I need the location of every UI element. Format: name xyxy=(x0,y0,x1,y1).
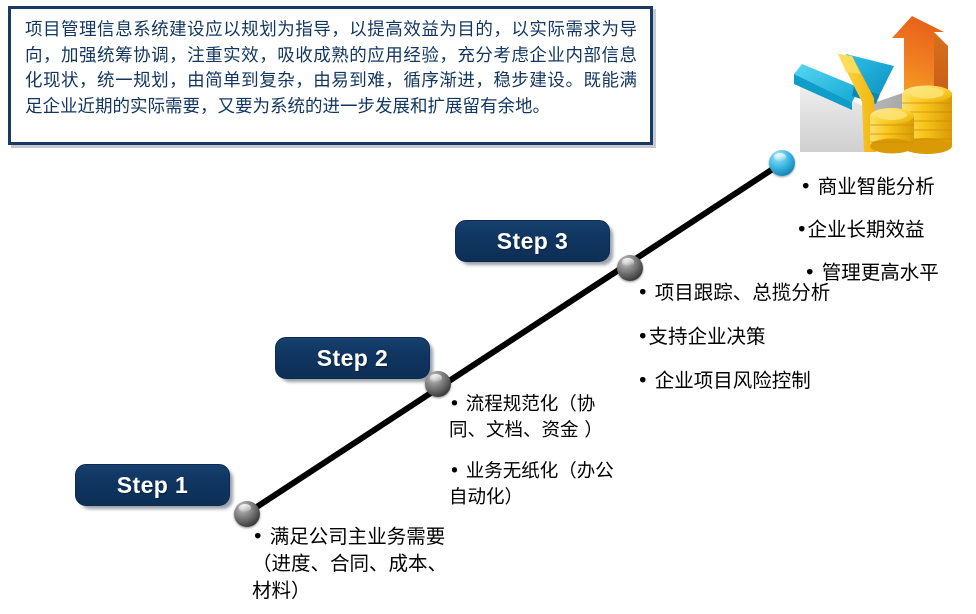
sphere-gloss-icon xyxy=(622,258,634,266)
sphere-gloss-icon xyxy=(430,374,442,382)
step-1-badge[interactable]: Step 1 xyxy=(75,464,230,506)
step-1-bullet-line-3: 材料） xyxy=(252,577,510,604)
slide-canvas: 项目管理信息系统建设应以规划为指导，以提高效益为目的，以实际需求为导向，加强统筹… xyxy=(0,0,976,614)
step-2-bullets: • 流程规范化（协同、文档、资金 ） • 业务无纸化（办公自动化） xyxy=(449,392,631,511)
step-3-bullet-2: •支持企业决策 xyxy=(637,323,887,350)
step-3-bullet-3: • 企业项目风险控制 xyxy=(637,367,887,394)
outcome-bullet-1: • 商业智能分析 xyxy=(800,173,976,200)
step-3-badge[interactable]: Step 3 xyxy=(455,220,610,262)
step-3-node-sphere xyxy=(617,255,643,281)
intro-text-box: 项目管理信息系统建设应以规划为指导，以提高效益为目的，以实际需求为导向，加强统筹… xyxy=(8,6,653,145)
sphere-gloss-icon xyxy=(239,504,251,512)
step-2-badge[interactable]: Step 2 xyxy=(275,337,430,379)
step-3-badge-label: Step 3 xyxy=(497,228,568,255)
step-3-bullets: • 项目跟踪、总揽分析 •支持企业决策 • 企业项目风险控制 xyxy=(637,279,887,394)
step-2-bullet-2: • 业务无纸化（办公自动化） xyxy=(449,459,631,511)
outcome-bullet-3: • 管理更高水平 xyxy=(804,259,976,286)
sphere-gloss-icon xyxy=(774,153,786,161)
step-1-bullet-line-2: （进度、合同、成本、 xyxy=(252,550,510,577)
outcome-bullets: • 商业智能分析 •企业长期效益 • 管理更高水平 xyxy=(800,173,976,286)
intro-paragraph: 项目管理信息系统建设应以规划为指导，以提高效益为目的，以实际需求为导向，加强统筹… xyxy=(25,18,637,120)
step-1-bullet-line-1: • 满足公司主业务需要 xyxy=(252,523,510,550)
step-2-node-sphere xyxy=(425,371,451,397)
step-2-badge-label: Step 2 xyxy=(317,345,388,372)
step-1-bullets: • 满足公司主业务需要 （进度、合同、成本、 材料） xyxy=(252,523,510,604)
house-growth-illustration xyxy=(772,2,976,154)
coin-stack-short-icon xyxy=(870,108,914,154)
step-1-badge-label: Step 1 xyxy=(117,472,188,499)
outcome-bullet-2: •企业长期效益 xyxy=(796,216,976,243)
step-2-bullet-1: • 流程规范化（协同、文档、资金 ） xyxy=(449,392,631,444)
